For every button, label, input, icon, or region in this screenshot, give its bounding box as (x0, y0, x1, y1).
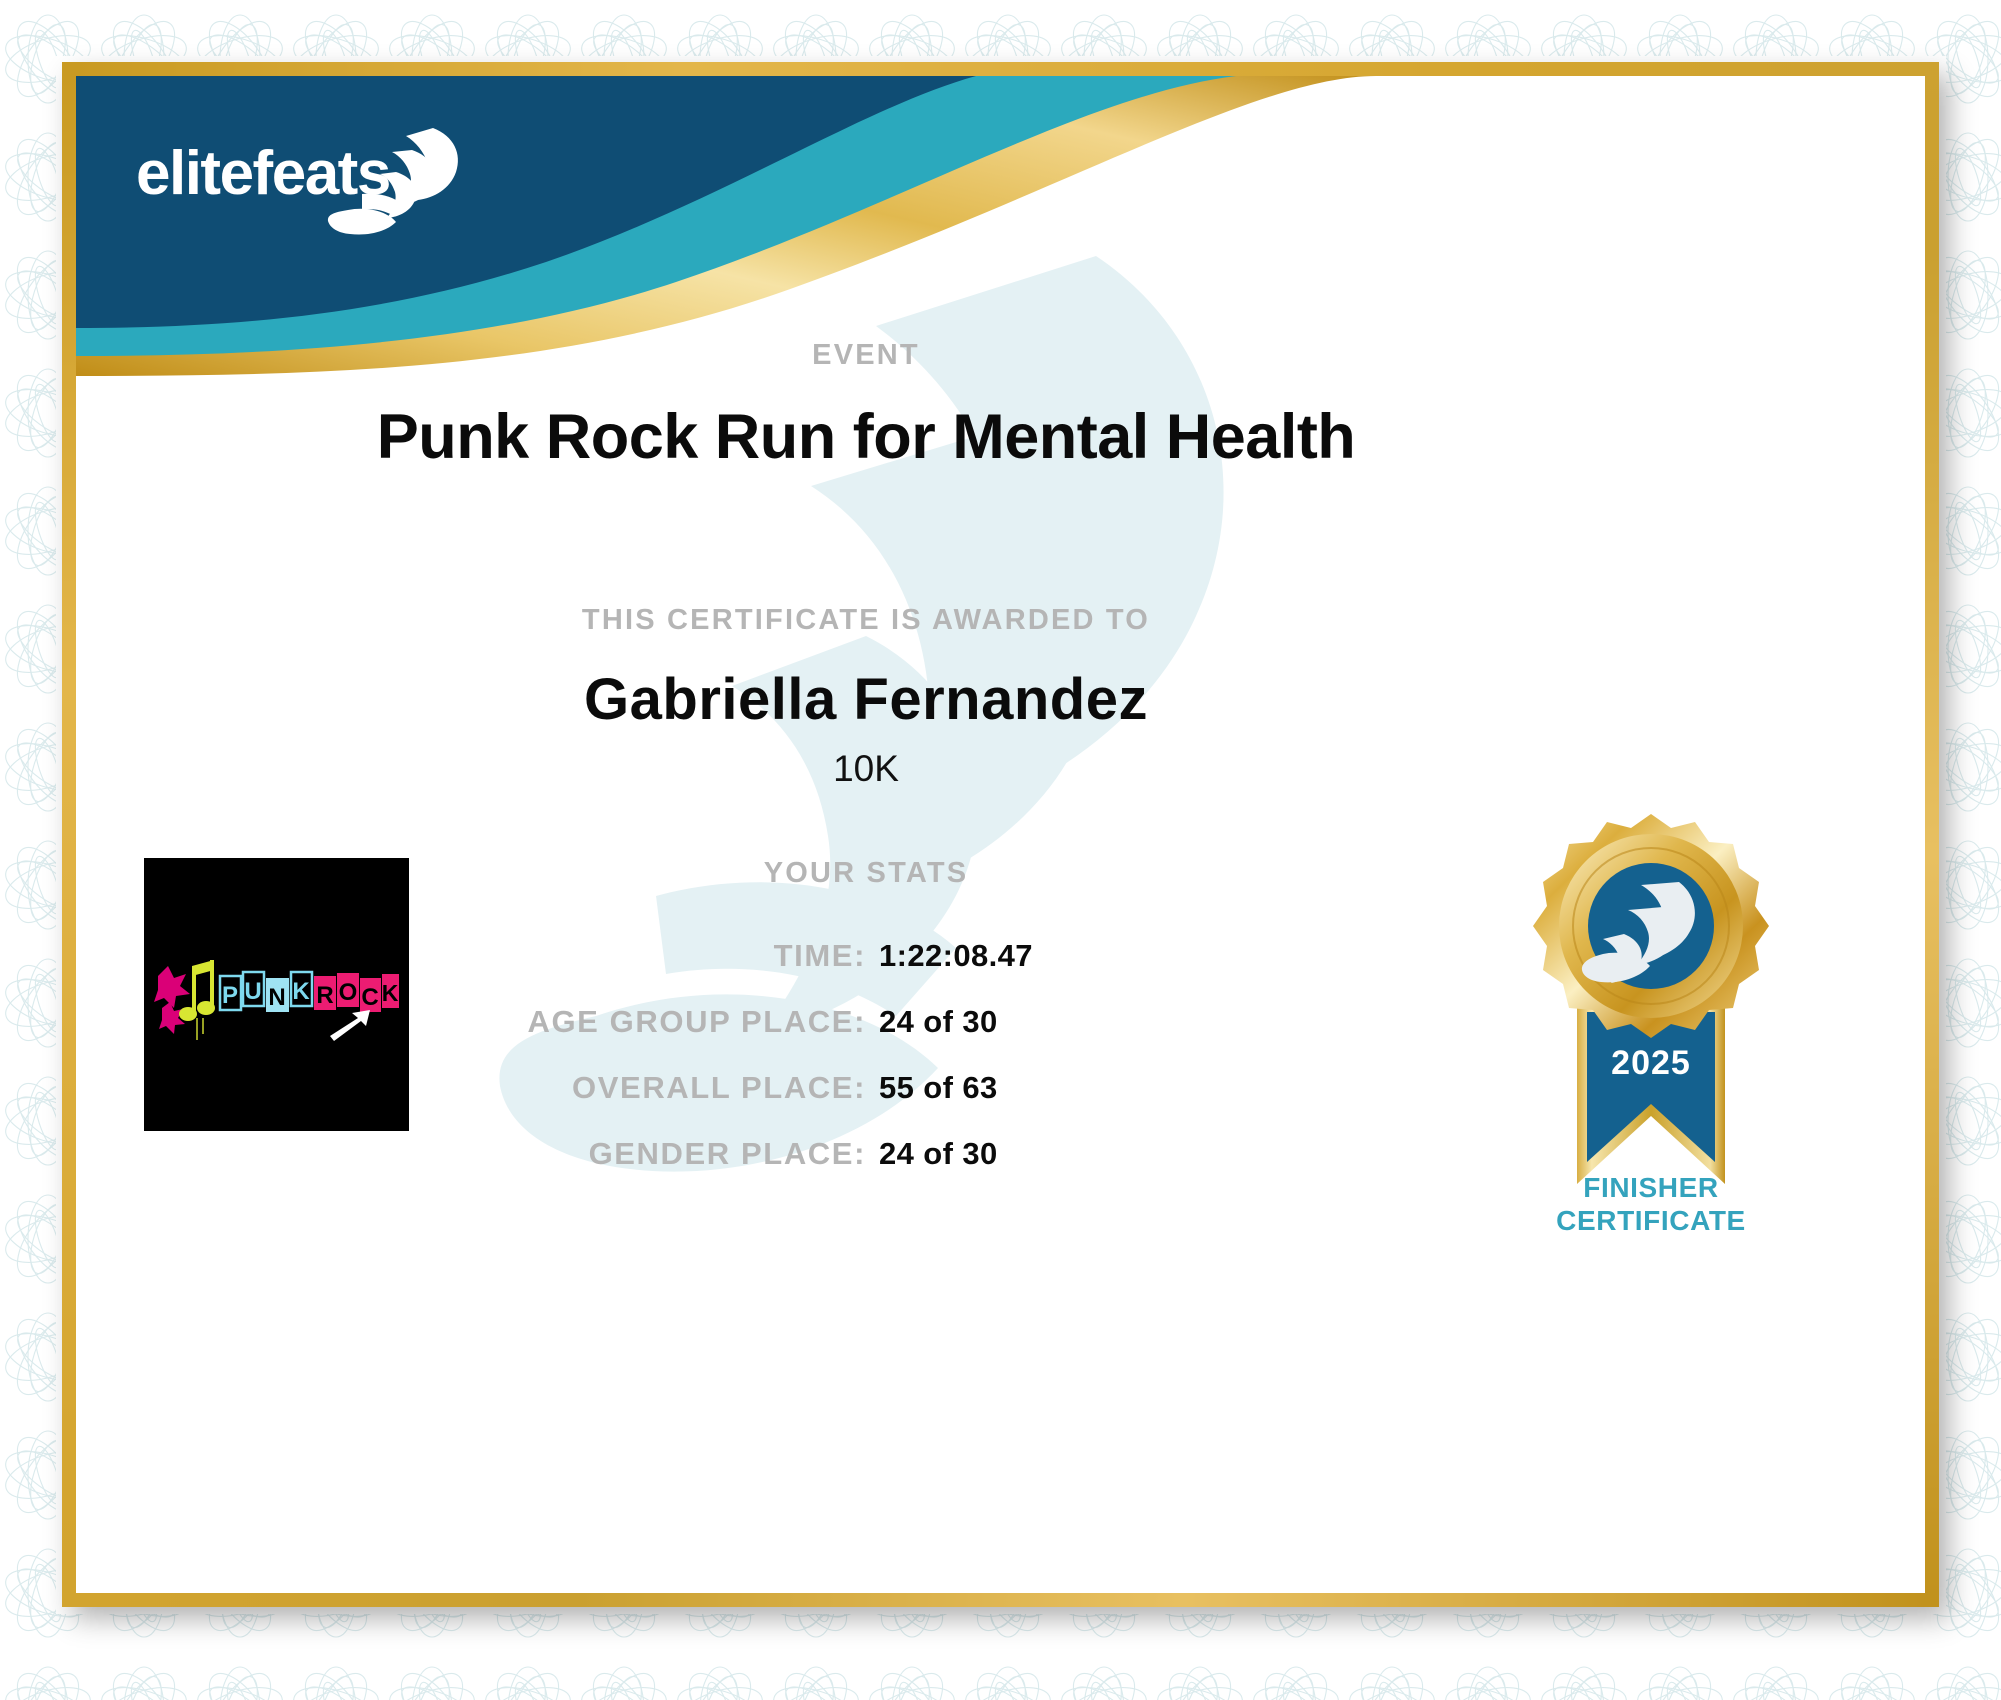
svg-text:N: N (268, 984, 285, 1011)
stat-value: 24 of 30 (866, 1136, 1336, 1172)
stat-value: 1:22:08.47 (866, 938, 1336, 974)
stat-key: TIME: (396, 938, 866, 974)
stat-key: GENDER PLACE: (396, 1136, 866, 1172)
finisher-caption-line2: CERTIFICATE (1476, 1204, 1826, 1237)
gold-border-frame: elitefeats (62, 62, 1939, 1607)
event-label: EVENT (166, 339, 1566, 372)
certificate-content: EVENT Punk Rock Run for Mental Health TH… (76, 76, 1925, 1593)
finisher-caption: FINISHER CERTIFICATE (1476, 1171, 1826, 1237)
svg-text:O: O (339, 979, 358, 1006)
stat-row-gender-place: GENDER PLACE: 24 of 30 (166, 1136, 1566, 1202)
event-title: Punk Rock Run for Mental Health (166, 401, 1566, 473)
finisher-caption-line1: FINISHER (1476, 1171, 1826, 1204)
recipient-name: Gabriella Fernandez (166, 666, 1566, 733)
svg-text:U: U (244, 978, 261, 1005)
stat-key: AGE GROUP PLACE: (396, 1004, 866, 1040)
stat-value: 24 of 30 (866, 1004, 1336, 1040)
certificate-page: elitefeats (0, 0, 2001, 1700)
medal-rosette (1533, 814, 1769, 1038)
event-logo-image: P U N K R O (144, 858, 409, 1131)
certificate-sheet: elitefeats (76, 76, 1925, 1593)
svg-text:K: K (382, 980, 399, 1006)
medal-year: 2025 (1611, 1044, 1691, 1082)
awarded-to-label: THIS CERTIFICATE IS AWARDED TO (166, 604, 1566, 637)
stat-value: 55 of 63 (866, 1070, 1336, 1106)
stat-key: OVERALL PLACE: (396, 1070, 866, 1106)
svg-text:K: K (292, 978, 310, 1005)
svg-text:C: C (361, 984, 378, 1011)
svg-text:P: P (222, 982, 238, 1009)
race-distance: 10K (166, 748, 1566, 790)
svg-text:R: R (316, 982, 333, 1009)
